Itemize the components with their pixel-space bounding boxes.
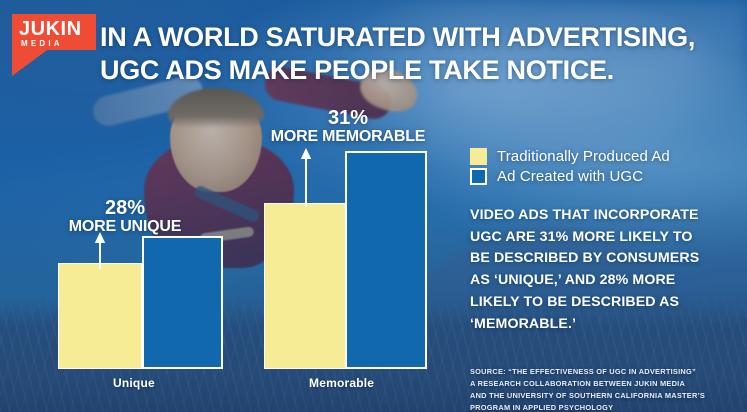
- axis-label-unique: Unique: [113, 376, 155, 390]
- callout-memorable-label: MORE MEMORABLE: [248, 129, 448, 146]
- bar-memorable-traditional: [264, 203, 348, 369]
- infographic-canvas: JUKIN MEDIA IN A WORLD SATURATED WITH AD…: [0, 0, 747, 412]
- legend-swatch-traditional-icon: [470, 148, 487, 165]
- bar-chart: 28% MORE UNIQUE Unique 31% MORE MEMORABL…: [0, 0, 450, 412]
- legend-label-ugc: Ad Created with UGC: [497, 168, 643, 185]
- bar-unique-ugc: [142, 236, 223, 369]
- axis-label-memorable: Memorable: [309, 376, 374, 390]
- bar-memorable-ugc: [345, 151, 427, 369]
- arrow-memorable: [299, 148, 313, 208]
- callout-memorable-percent: 31%: [248, 108, 448, 129]
- bar-unique-traditional: [58, 263, 142, 369]
- legend-item-traditional: Traditionally Produced Ad: [470, 148, 732, 165]
- callout-memorable: 31% MORE MEMORABLE: [248, 108, 448, 146]
- source-line-2: A RESEARCH COLLABORATION BETWEEN JUKIN M…: [470, 378, 740, 390]
- body-copy: VIDEO ADS THAT INCORPORATE UGC ARE 31% M…: [470, 205, 720, 335]
- source-citation: SOURCE: “THE EFFECTIVENESS OF UGC IN ADV…: [470, 366, 740, 412]
- legend-label-traditional: Traditionally Produced Ad: [497, 148, 670, 165]
- legend-swatch-ugc-icon: [470, 168, 487, 185]
- body-copy-line-2: UGC ARE 31% MORE LIKELY TO: [470, 227, 720, 249]
- body-copy-line-3: BE DESCRIBED BY CONSUMERS: [470, 248, 720, 270]
- callout-unique-label: MORE UNIQUE: [45, 219, 205, 236]
- source-line-1: SOURCE: “THE EFFECTIVENESS OF UGC IN ADV…: [470, 366, 740, 378]
- source-line-4: PROGRAM IN APPLIED PSYCHOLOGY: [470, 402, 740, 412]
- callout-unique: 28% MORE UNIQUE: [45, 198, 205, 236]
- body-copy-line-5: LIKELY TO BE DESCRIBED AS: [470, 292, 720, 314]
- body-copy-line-4: AS ‘UNIQUE,’ AND 28% MORE: [470, 270, 720, 292]
- source-line-3: AND THE UNIVERSITY OF SOUTHERN CALIFORNI…: [470, 390, 740, 402]
- callout-unique-percent: 28%: [45, 198, 205, 219]
- arrow-unique: [93, 232, 107, 270]
- body-copy-line-1: VIDEO ADS THAT INCORPORATE: [470, 205, 720, 227]
- body-copy-line-6: ‘MEMORABLE.’: [470, 314, 720, 336]
- legend-item-ugc: Ad Created with UGC: [470, 168, 732, 185]
- chart-legend: Traditionally Produced Ad Ad Created wit…: [470, 148, 732, 188]
